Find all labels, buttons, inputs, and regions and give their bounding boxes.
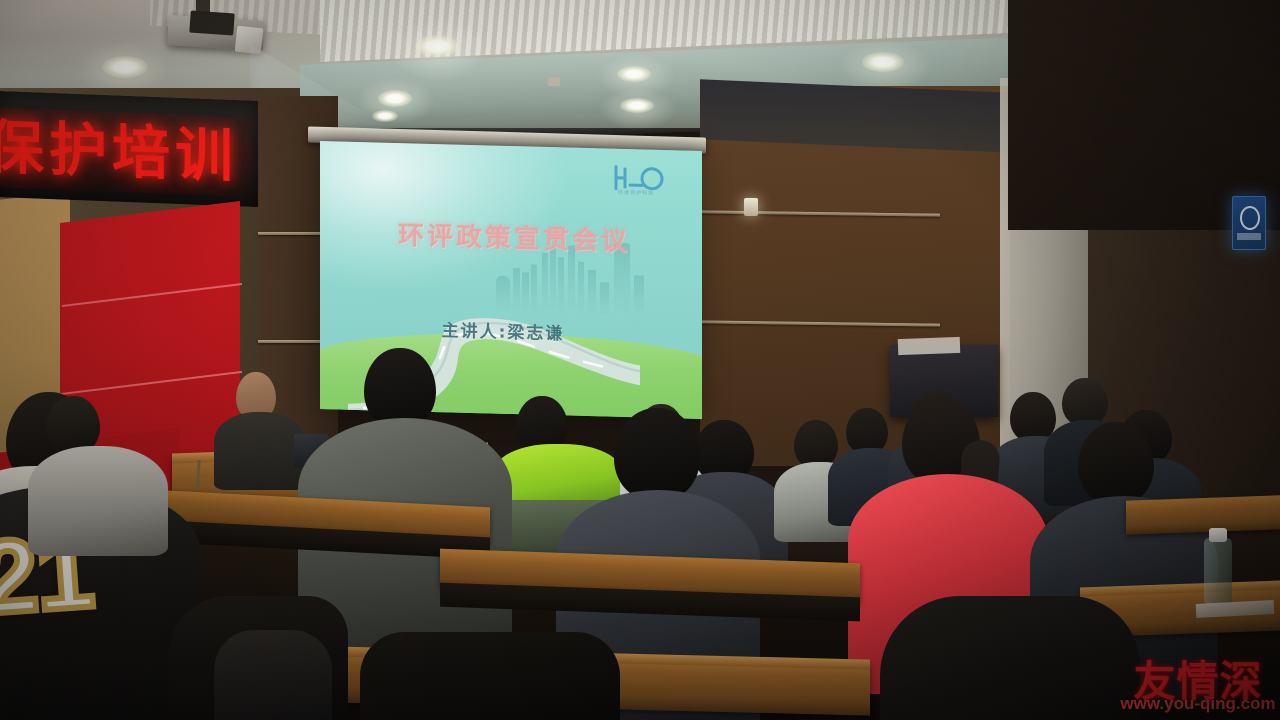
water-bottle-cap xyxy=(1209,528,1227,542)
downlight-4 xyxy=(617,66,651,82)
led-banner-text: 保护培训 xyxy=(0,107,256,197)
speaker-body xyxy=(214,412,306,490)
head xyxy=(794,420,838,468)
head xyxy=(1010,392,1056,442)
downlight-5 xyxy=(862,52,904,72)
body-light-shirt xyxy=(28,446,168,556)
wall-light xyxy=(744,198,758,216)
foreground-dark-mass-center xyxy=(360,632,620,720)
photo-scene: 保护培训 xyxy=(0,0,1280,720)
downlight-3 xyxy=(378,90,412,107)
blue-sign-label-bar xyxy=(1237,233,1261,240)
head xyxy=(1062,378,1108,426)
blue-sign xyxy=(1232,196,1266,250)
slide-title: 环评政策宣贯会议 xyxy=(364,214,664,259)
wood-trim-left-1 xyxy=(258,232,320,235)
projector-top-shadow xyxy=(189,10,234,35)
downlight-1 xyxy=(102,56,148,78)
smoke-detector xyxy=(548,77,560,86)
watermark-url: www.you-qing.com xyxy=(1118,694,1278,714)
wood-trim-left-2 xyxy=(258,340,320,343)
watermark: 友情深 www.you-qing.com xyxy=(1118,648,1278,718)
foreground-chair-back xyxy=(214,630,332,720)
prohibition-icon xyxy=(1240,206,1260,230)
slide-logo-text: 环境保护科技 xyxy=(598,188,674,197)
downlight-6 xyxy=(620,98,654,113)
water-bottle xyxy=(1204,538,1232,606)
bench-desk-right-1 xyxy=(1126,495,1280,534)
audience-person-foreground-right xyxy=(880,596,1140,720)
downlight-2 xyxy=(415,35,459,57)
av-box-papers xyxy=(898,337,961,355)
head xyxy=(614,408,700,500)
head xyxy=(364,348,436,428)
head xyxy=(1078,422,1154,504)
